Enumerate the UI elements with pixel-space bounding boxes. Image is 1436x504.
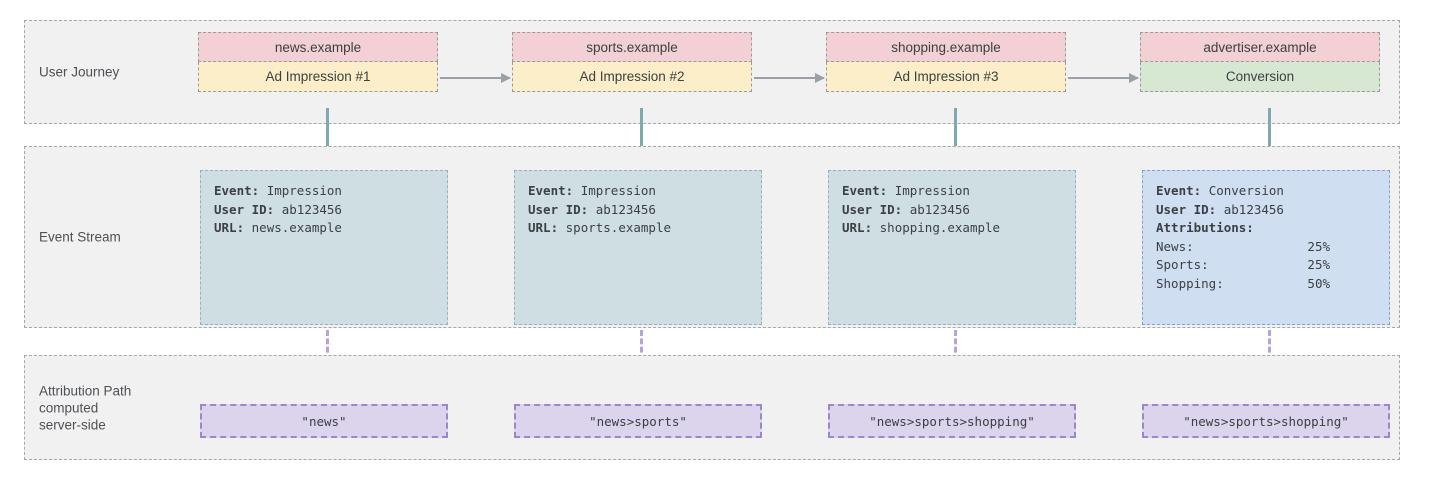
url-value-2: sports.example [566,220,671,235]
user-key-4: User ID: [1156,202,1216,217]
journey-card-4[interactable]: advertiser.example Conversion [1140,32,1380,92]
flow-arrow-right-3 [1068,77,1138,79]
journey-card-1[interactable]: news.example Ad Impression #1 [198,32,438,92]
event-box-4[interactable]: Event: Conversion User ID: ab123456 Attr… [1142,170,1390,325]
attribution-pct-shopping: 50% [1284,275,1330,294]
band-label-event-stream: Event Stream [39,229,121,246]
event-key-2: Event: [528,183,573,198]
url-key-3: URL: [842,220,872,235]
attribution-row-shopping: Shopping: 50% [1156,275,1376,294]
attribution-path-box-4[interactable]: "news>sports>shopping" [1142,404,1390,438]
event-row-url-3: URL: shopping.example [842,219,1062,238]
event-row-user-4: User ID: ab123456 [1156,201,1376,220]
event-value-3: Impression [895,183,970,198]
url-key-1: URL: [214,220,244,235]
event-row-event-4: Event: Conversion [1156,182,1376,201]
user-key-1: User ID: [214,202,274,217]
event-box-2[interactable]: Event: Impression User ID: ab123456 URL:… [514,170,762,325]
event-key-1: Event: [214,183,259,198]
attribution-row-news: News: 25% [1156,238,1376,257]
event-value-4: Conversion [1209,183,1284,198]
journey-domain-2: sports.example [512,32,752,62]
event-row-event-1: Event: Impression [214,182,434,201]
journey-card-2[interactable]: sports.example Ad Impression #2 [512,32,752,92]
user-key-2: User ID: [528,202,588,217]
journey-domain-1: news.example [198,32,438,62]
journey-card-3[interactable]: shopping.example Ad Impression #3 [826,32,1066,92]
attribution-pct-news: 25% [1284,238,1330,257]
event-row-attributions-label: Attributions: [1156,219,1376,238]
attribution-path-box-1[interactable]: "news" [200,404,448,438]
event-value-2: Impression [581,183,656,198]
event-row-event-3: Event: Impression [842,182,1062,201]
band-label-attribution-path: Attribution Path computed server-side [39,382,131,433]
event-value-1: Impression [267,183,342,198]
attribution-name-sports: Sports: [1156,256,1284,275]
attribution-name-news: News: [1156,238,1284,257]
user-value-2: ab123456 [596,202,656,217]
attribution-name-shopping: Shopping: [1156,275,1284,294]
url-value-3: shopping.example [880,220,1000,235]
event-row-event-2: Event: Impression [528,182,748,201]
journey-action-1: Ad Impression #1 [198,62,438,92]
journey-action-2: Ad Impression #2 [512,62,752,92]
journey-action-4: Conversion [1140,62,1380,92]
journey-domain-3: shopping.example [826,32,1066,62]
flow-arrow-right-1 [440,77,510,79]
attribution-path-box-3[interactable]: "news>sports>shopping" [828,404,1076,438]
attribution-path-box-2[interactable]: "news>sports" [514,404,762,438]
flow-arrow-right-2 [754,77,824,79]
user-value-1: ab123456 [282,202,342,217]
user-value-3: ab123456 [910,202,970,217]
journey-action-3: Ad Impression #3 [826,62,1066,92]
attribution-pct-sports: 25% [1284,256,1330,275]
event-row-user-2: User ID: ab123456 [528,201,748,220]
event-row-user-1: User ID: ab123456 [214,201,434,220]
event-key-4: Event: [1156,183,1201,198]
event-box-3[interactable]: Event: Impression User ID: ab123456 URL:… [828,170,1076,325]
event-box-1[interactable]: Event: Impression User ID: ab123456 URL:… [200,170,448,325]
attribution-row-sports: Sports: 25% [1156,256,1376,275]
journey-domain-4: advertiser.example [1140,32,1380,62]
event-row-user-3: User ID: ab123456 [842,201,1062,220]
event-row-url-1: URL: news.example [214,219,434,238]
user-key-3: User ID: [842,202,902,217]
band-label-user-journey: User Journey [39,64,119,81]
user-value-4: ab123456 [1224,202,1284,217]
diagram-canvas: User Journey news.example Ad Impression … [0,0,1436,504]
event-row-url-2: URL: sports.example [528,219,748,238]
attributions-key: Attributions: [1156,220,1254,235]
url-key-2: URL: [528,220,558,235]
event-key-3: Event: [842,183,887,198]
url-value-1: news.example [252,220,342,235]
